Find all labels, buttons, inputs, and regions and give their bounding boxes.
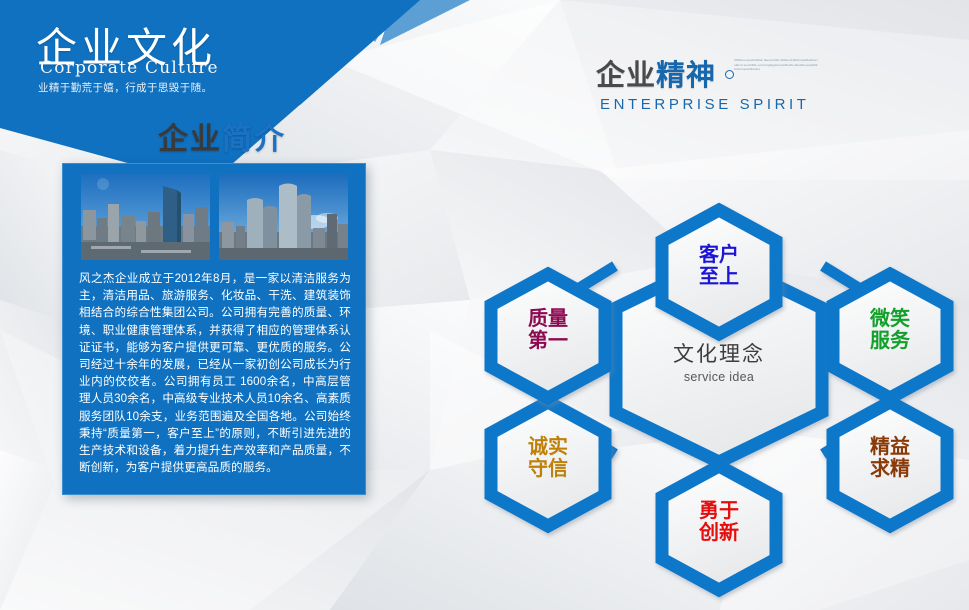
company-intro-heading: 企业简介 <box>158 114 286 158</box>
city-skyline-photo <box>81 174 210 260</box>
banner-motto: 业精于勤荒于嬉，行成于思毁于随。 <box>38 80 212 95</box>
spirit-heading-blue: 精神 <box>656 60 716 92</box>
intro-heading-dark: 企业 <box>158 123 222 156</box>
circle-accent-icon <box>725 70 734 79</box>
hex-innovation-shape <box>662 466 776 590</box>
spirit-heading-dark: 企业 <box>596 60 656 92</box>
hex-center-label-en: service idea <box>619 370 819 384</box>
hex-smile-service-shape <box>833 274 947 398</box>
hex-center-label-cn: 文化理念 <box>619 338 819 368</box>
spirit-decorative-text: dhfkdsu iaewhdidsk faeorushkl dhdfuerkdf… <box>734 58 818 72</box>
card-photo-row <box>81 174 349 260</box>
hex-integrity-shape <box>491 402 605 526</box>
hex-excellence-shape <box>833 402 947 526</box>
company-intro-card: 风之杰企业成立于2012年8月，是一家以清洁服务为主，清洁用品、旅游服务、化妆品… <box>62 163 366 495</box>
hex-customer-first-shape <box>662 210 776 334</box>
company-intro-text: 风之杰企业成立于2012年8月，是一家以清洁服务为主，清洁用品、旅游服务、化妆品… <box>79 270 351 476</box>
intro-heading-blue: 简介 <box>222 123 286 156</box>
culture-hex-diagram: 文化理念 service idea 客户 至上 微笑 服务 精益 求精 勇于 创… <box>470 110 969 610</box>
banner-title-en: Corporate Culture <box>40 58 219 78</box>
poster-canvas: 企业文化 Corporate Culture 业精于勤荒于嬉，行成于思毁于随。 … <box>0 0 969 610</box>
skyscraper-photo <box>219 174 348 260</box>
hex-quality-first-shape <box>491 274 605 398</box>
enterprise-spirit-heading: 企业精神 ENTERPRISE SPIRIT dhfkdsu iaewhdids… <box>596 52 810 113</box>
